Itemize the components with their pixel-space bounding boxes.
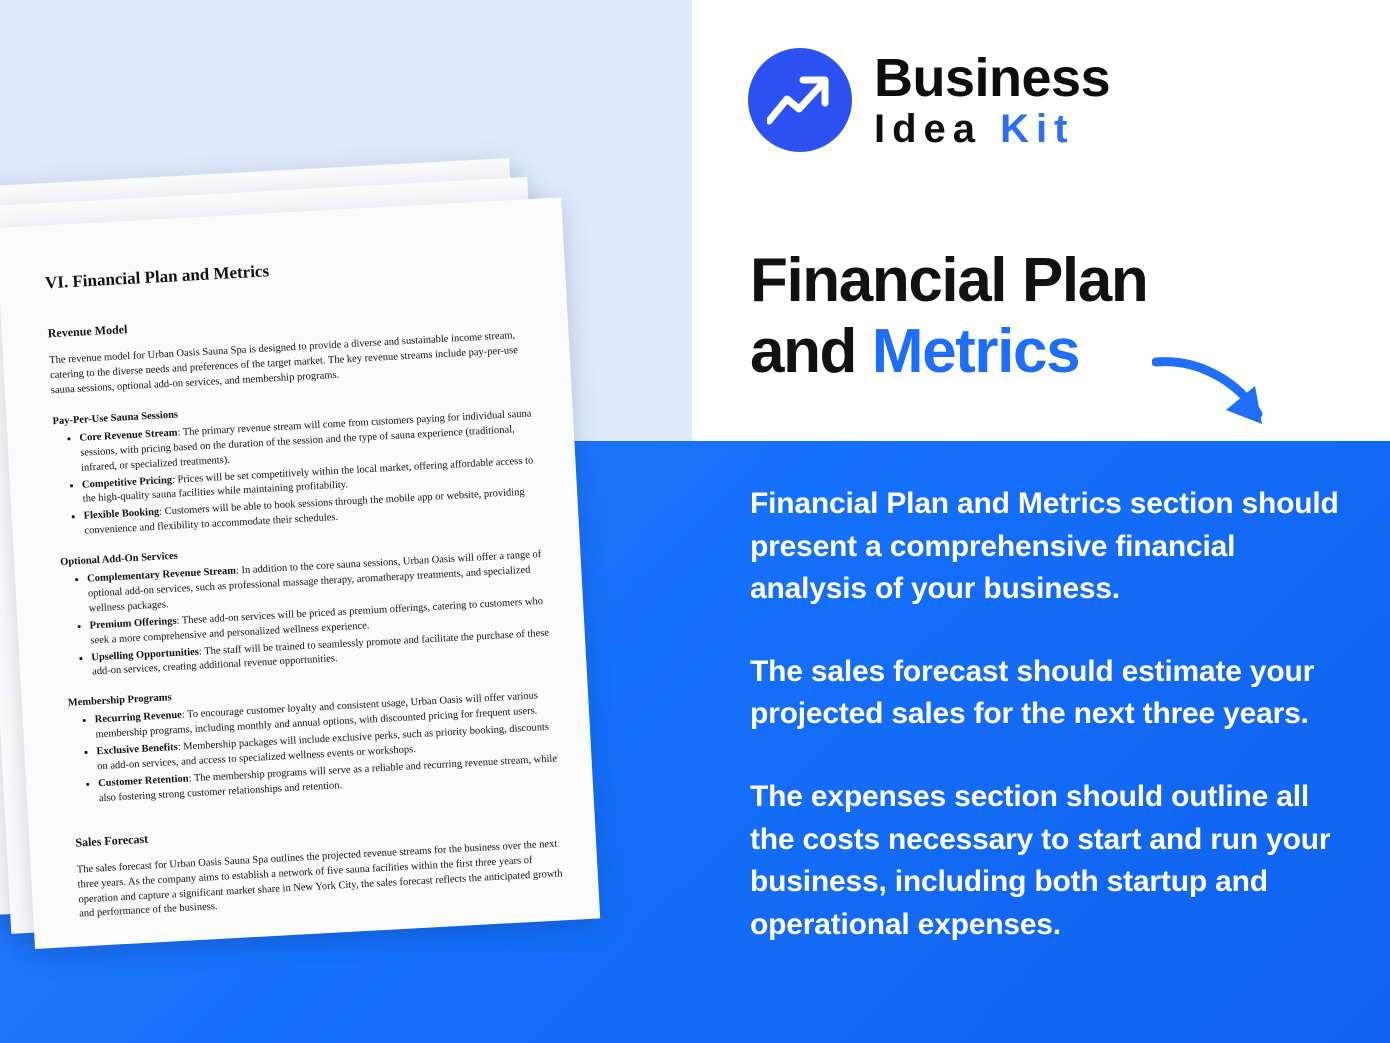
document-content: VI. Financial Plan and Metrics Revenue M… [0,197,599,925]
brand-line-2-prefix: Idea [874,107,1000,151]
list-item-term: Recurring Revenue [94,710,182,726]
brand-line-2: Idea Kit [874,109,1110,149]
document-group-list-1: Core Revenue Stream: The primary revenue… [79,406,548,539]
list-item-term: Premium Offerings [89,616,176,632]
trend-arrow-circle-icon [748,48,852,152]
page-title-line-1: Financial Plan [750,246,1350,317]
document-sales-forecast-paragraph: The sales forecast for Urban Oasis Sauna… [76,837,569,923]
document-title: VI. Financial Plan and Metrics [44,245,535,296]
document-intro-paragraph: The revenue model for Urban Oasis Sauna … [49,328,541,399]
page-title-line-2-accent: Metrics [872,317,1079,386]
page-title-line-2-prefix: and [750,317,872,386]
list-item-term: Core Revenue Stream [79,427,178,443]
brand-line-1: Business [874,51,1110,105]
panel-paragraph-2: The sales forecast should estimate your … [750,651,1350,736]
panel-paragraph-1: Financial Plan and Metrics section shoul… [750,483,1350,611]
document-page-front: VI. Financial Plan and Metrics Revenue M… [0,197,600,949]
list-item-term: Customer Retention [98,773,189,789]
brand-wordmark: Business Idea Kit [874,51,1110,149]
brand-logo: Business Idea Kit [748,48,1110,152]
panel-description: Financial Plan and Metrics section shoul… [750,483,1350,946]
list-item-term: Flexible Booking [83,507,159,522]
list-item-term: Competitive Pricing [82,474,173,490]
slide-canvas: VI. Financial Plan and Metrics Revenue M… [0,0,1390,1043]
document-group-list-2: Complementary Revenue Stream: In additio… [87,548,556,681]
curved-arrow-down-right-icon [1152,352,1282,432]
panel-paragraph-3: The expenses section should outline all … [750,776,1350,946]
brand-line-2-accent: Kit [1000,107,1074,151]
list-item-term: Exclusive Benefits [96,742,178,757]
